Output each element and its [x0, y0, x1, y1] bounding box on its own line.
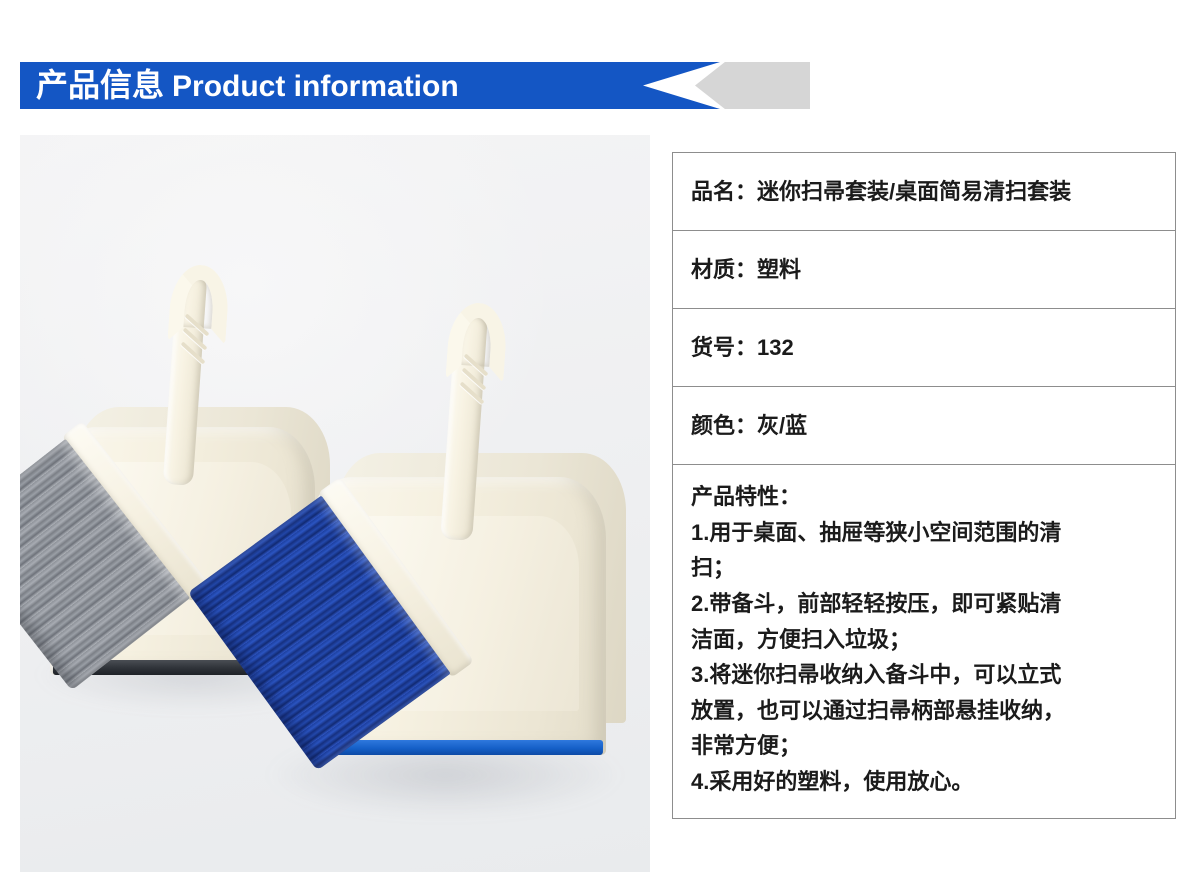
- banner-title-cn: 产品信息: [36, 67, 164, 103]
- spec-row-product-name: 品名： 迷你扫帚套装/桌面简易清扫套装: [673, 153, 1175, 231]
- feature-line: 放置，也可以通过扫帚柄部悬挂收纳，: [691, 693, 1157, 729]
- spec-row-item-number: 货号： 132: [673, 309, 1175, 387]
- spec-row-features: 产品特性： 1.用于桌面、抽屉等狭小空间范围的清 扫； 2.带备斗，前部轻轻按压…: [673, 465, 1175, 818]
- spec-row-color: 颜色： 灰/蓝: [673, 387, 1175, 465]
- banner-title-en: Product information: [172, 70, 459, 103]
- spec-row-material: 材质： 塑料: [673, 231, 1175, 309]
- spec-value-product-name: 迷你扫帚套装/桌面简易清扫套装: [757, 178, 1071, 206]
- banner-grey-chevron: [695, 62, 810, 109]
- spec-value-color: 灰/蓝: [757, 412, 807, 440]
- spec-label-product-name: 品名：: [691, 178, 757, 206]
- feature-line: 3.将迷你扫帚收纳入备斗中，可以立式: [691, 657, 1157, 693]
- product-spec-table: 品名： 迷你扫帚套装/桌面简易清扫套装 材质： 塑料 货号： 132 颜色： 灰…: [672, 152, 1176, 819]
- features-title: 产品特性：: [691, 479, 1157, 515]
- feature-line: 洁面，方便扫入垃圾；: [691, 622, 1157, 658]
- feature-line: 2.带备斗，前部轻轻按压，即可紧贴清: [691, 586, 1157, 622]
- spec-value-material: 塑料: [757, 256, 801, 284]
- banner-blue-ribbon: 产品信息Product information: [20, 62, 720, 109]
- product-photo: [20, 135, 650, 872]
- grey-broom-hanging-hook: [167, 263, 230, 345]
- blue-broom-dustpan-set: [278, 435, 648, 765]
- feature-line: 扫；: [691, 550, 1157, 586]
- page-header-banner: 产品信息Product information: [20, 62, 795, 109]
- spec-label-color: 颜色：: [691, 412, 757, 440]
- spec-label-item-number: 货号：: [691, 334, 757, 362]
- spec-label-material: 材质：: [691, 256, 757, 284]
- blue-broom-hanging-hook: [445, 301, 508, 383]
- spec-value-item-number: 132: [757, 334, 794, 362]
- feature-line: 4.采用好的塑料，使用放心。: [691, 764, 1157, 800]
- feature-line: 非常方便；: [691, 728, 1157, 764]
- feature-line: 1.用于桌面、抽屉等狭小空间范围的清: [691, 515, 1157, 551]
- banner-title: 产品信息Product information: [20, 69, 459, 102]
